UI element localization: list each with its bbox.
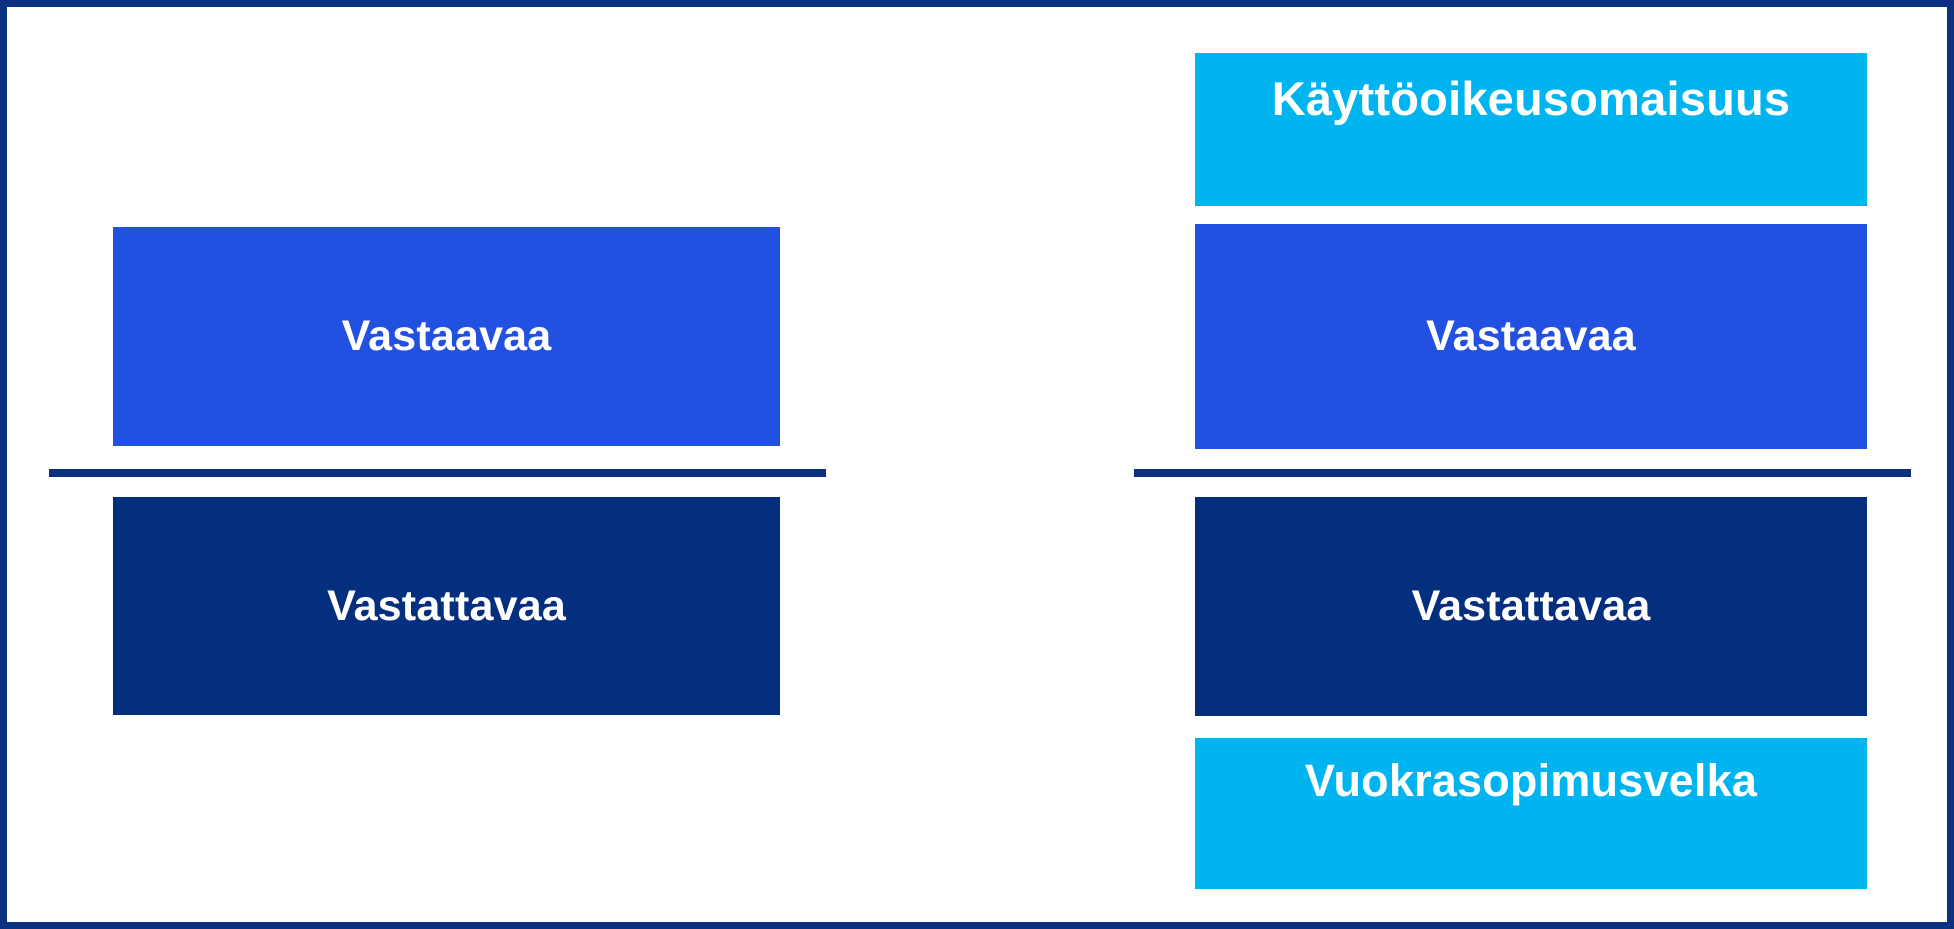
diagram-content-area: Vastaavaa Vastattavaa Käyttöoikeusomaisu… bbox=[7, 7, 1947, 922]
liabilities-block-before[interactable]: Vastattavaa bbox=[113, 497, 780, 715]
right-of-use-asset-label: Käyttöoikeusomaisuus bbox=[1272, 75, 1791, 122]
balance-sheet-divider-before bbox=[49, 469, 826, 477]
lease-liability-label: Vuokrasopimusvelka bbox=[1305, 758, 1757, 803]
assets-block-after-label: Vastaavaa bbox=[1426, 315, 1636, 358]
assets-block-after[interactable]: Vastaavaa bbox=[1195, 224, 1867, 449]
liabilities-block-after[interactable]: Vastattavaa bbox=[1195, 497, 1867, 716]
liabilities-block-before-label: Vastattavaa bbox=[327, 585, 566, 628]
assets-block-before[interactable]: Vastaavaa bbox=[113, 227, 780, 446]
right-of-use-asset-block[interactable]: Käyttöoikeusomaisuus bbox=[1195, 53, 1867, 206]
lease-liability-block[interactable]: Vuokrasopimusvelka bbox=[1195, 738, 1867, 889]
assets-block-before-label: Vastaavaa bbox=[342, 315, 552, 358]
liabilities-block-after-label: Vastattavaa bbox=[1412, 585, 1651, 628]
diagram-canvas: Vastaavaa Vastattavaa Käyttöoikeusomaisu… bbox=[0, 0, 1954, 929]
balance-sheet-divider-after bbox=[1134, 469, 1911, 477]
